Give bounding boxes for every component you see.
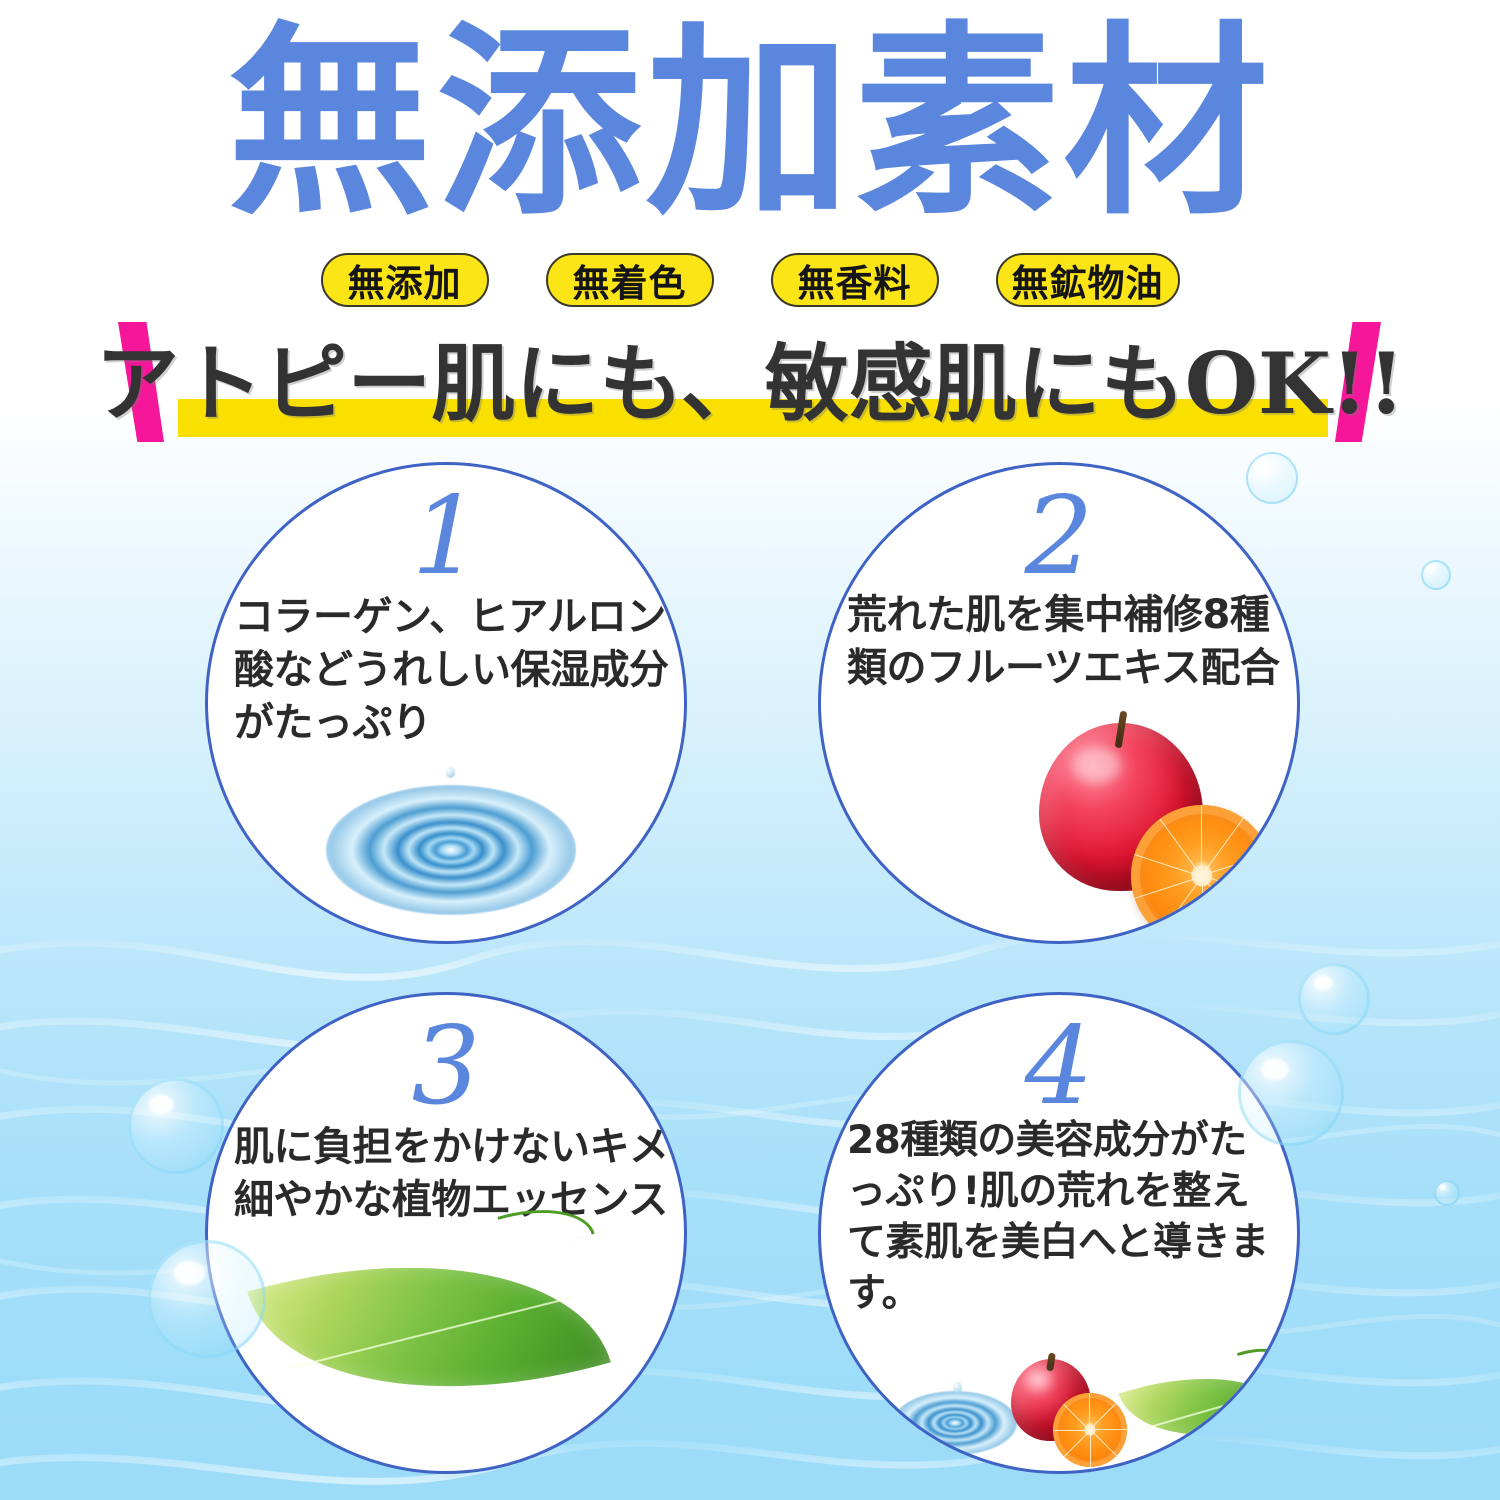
feature-number-2: 2 [821, 481, 1297, 593]
feature-circle-1: 1 コラーゲン、ヒアルロン酸などうれしい保湿成分がたっぷり [205, 462, 687, 944]
feature-number-1: 1 [208, 481, 684, 593]
bubble-decoration [1421, 560, 1451, 590]
banner: アトピー肌にも、敏感肌にもOK!! [0, 316, 1500, 446]
bubble-decoration [1298, 963, 1370, 1035]
badge-no-coloring: 無着色 [546, 253, 714, 307]
feature-number-3: 3 [208, 1011, 684, 1123]
water-ripple-icon [326, 785, 576, 915]
badge-no-fragrance: 無香料 [771, 253, 939, 307]
apple-gloss [1072, 747, 1121, 784]
page-title: 無添加素材 [0, 16, 1500, 231]
bubble-decoration [148, 1240, 266, 1358]
bubble-decoration [1246, 452, 1298, 504]
orange-half-icon [1131, 805, 1273, 944]
promo-banner: 無添加素材 無添加 無着色 無香料 無鉱物油 アトピー肌にも、敏感肌にもOK!!… [0, 0, 1500, 1500]
feature-text-2: 荒れた肌を集中補修8種類のフルーツエキス配合 [847, 589, 1283, 695]
water-ripple-icon-small [893, 1391, 1017, 1455]
bubble-decoration [128, 1078, 224, 1174]
apple-stem-icon [1115, 711, 1128, 749]
green-leaf-icon-small [1119, 1344, 1296, 1470]
feature-text-3: 肌に負担をかけないキメ細やかな植物エッセンス [234, 1121, 670, 1227]
leaf-tip-small [1237, 1340, 1286, 1375]
apple-stem-icon-small [1046, 1353, 1056, 1372]
banner-text: アトピー肌にも、敏感肌にもOK!! [0, 336, 1500, 432]
orange-half-icon-small [1053, 1393, 1127, 1467]
badge-no-mineral-oil: 無鉱物油 [996, 253, 1180, 307]
bubble-decoration [1238, 1040, 1344, 1146]
badge-row: 無添加 無着色 無香料 無鉱物油 [0, 253, 1500, 307]
feature-circle-4: 4 28種類の美容成分がたっぷり!肌の荒れを整えて素肌を美白へと導きます。 [818, 992, 1300, 1474]
feature-circle-2: 2 荒れた肌を集中補修8種類のフルーツエキス配合 [818, 462, 1300, 944]
feature-text-4: 28種類の美容成分がたっぷり!肌の荒れを整えて素肌を美白へと導きます。 [847, 1115, 1283, 1319]
badge-no-additives: 無添加 [321, 253, 489, 307]
feature-number-4: 4 [821, 1011, 1297, 1123]
green-leaf-icon [247, 1201, 611, 1453]
feature-text-1: コラーゲン、ヒアルロン酸などうれしい保湿成分がたっぷり [234, 591, 670, 750]
feature-circle-3: 3 肌に負担をかけないキメ細やかな植物エッセンス [205, 992, 687, 1474]
apple-gloss-small [1027, 1370, 1051, 1388]
bubble-decoration [1434, 1180, 1460, 1206]
